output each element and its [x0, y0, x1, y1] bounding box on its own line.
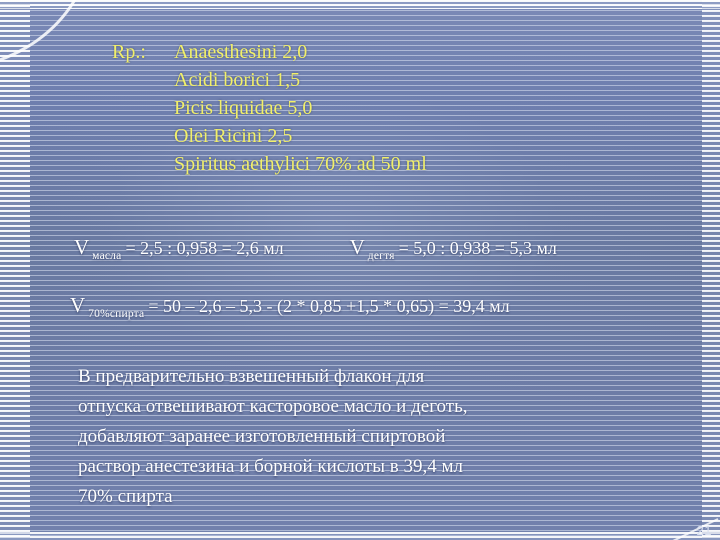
formula-tar-expression: = 5,0 : 0,938 = 5,3 мл	[399, 238, 557, 258]
prescription-label: Rp.:	[112, 38, 174, 66]
prescription-ingredient: Anaesthesini 2,0	[174, 38, 427, 66]
formula-tar-symbol: V	[350, 235, 365, 259]
formula-oil-symbol: V	[74, 235, 89, 259]
right-edge-band	[702, 0, 720, 540]
formula-row-alcohol: V70%спирта= 50 – 2,6 – 5,3 - (2 * 0,85 +…	[70, 292, 690, 327]
prescription-block: Rp.: Anaesthesini 2,0 Acidi borici 1,5 P…	[112, 38, 427, 178]
left-edge-band	[0, 0, 30, 540]
prescription-ingredient-list: Anaesthesini 2,0 Acidi borici 1,5 Picis …	[174, 38, 427, 178]
formula-oil-subscript: масла	[89, 250, 125, 262]
prescription-ingredient: Acidi borici 1,5	[174, 66, 427, 94]
formula-alcohol-expression: = 50 – 2,6 – 5,3 - (2 * 0,85 +1,5 * 0,65…	[148, 296, 509, 316]
formula-oil-expression: = 2,5 : 0,958 = 2,6 мл	[125, 238, 283, 258]
formula-tar-volume: Vдегтя= 5,0 : 0,938 = 5,3 мл	[350, 234, 557, 269]
prescription-ingredient: Picis liquidae 5,0	[174, 94, 427, 122]
formula-oil-volume: Vмасла= 2,5 : 0,958 = 2,6 мл	[74, 234, 284, 269]
description-line: раствор анестезина и борной кислоты в 39…	[78, 452, 638, 482]
description-paragraph: В предварительно взвешенный флакон для о…	[78, 362, 638, 512]
formula-alcohol-symbol: V	[70, 293, 85, 317]
description-line: отпуска отвешивают касторовое масло и де…	[78, 392, 638, 422]
prescription-ingredient: Spiritus aethylici 70% ad 50 ml	[174, 150, 427, 178]
presentation-slide: 21 Rp.: Anaesthesini 2,0 Acidi borici 1,…	[0, 0, 720, 540]
formula-tar-subscript: дегтя	[365, 250, 399, 262]
formula-alcohol-volume: V70%спирта= 50 – 2,6 – 5,3 - (2 * 0,85 +…	[70, 292, 510, 327]
description-line: добавляют заранее изготовленный спиртово…	[78, 422, 638, 452]
prescription-ingredient: Olei Ricini 2,5	[174, 122, 427, 150]
description-line: 70% спирта	[78, 482, 638, 512]
page-number: 21	[697, 523, 712, 538]
formula-alcohol-subscript: 70%спирта	[85, 308, 148, 320]
bottom-edge-band	[0, 532, 720, 540]
top-edge-band	[0, 0, 720, 9]
formula-row-volumes: Vмасла= 2,5 : 0,958 = 2,6 мл Vдегтя= 5,0…	[70, 234, 690, 269]
description-line: В предварительно взвешенный флакон для	[78, 362, 638, 392]
